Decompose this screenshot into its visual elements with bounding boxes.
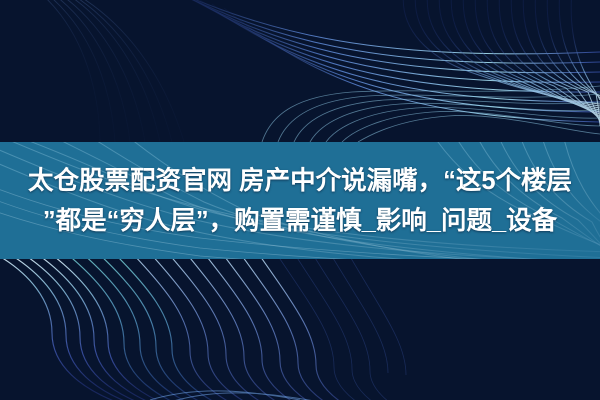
top-wave-decoration xyxy=(0,0,600,142)
bottom-strand-group-a xyxy=(0,259,188,400)
bottom-wave-svg xyxy=(0,259,600,400)
bottom-strand-group-c xyxy=(132,259,420,400)
band-wave-decoration xyxy=(0,142,600,259)
banner-image: 太仓股票配资官网 房产中介说漏嘴，“这5个楼层 ”都是“穷人层”，购置需谨慎_影… xyxy=(0,0,600,400)
bottom-strand-group-b xyxy=(66,259,260,400)
band-wave-svg xyxy=(0,142,600,259)
banner-top-background xyxy=(0,0,600,142)
left-arc-group xyxy=(0,0,184,142)
bottom-wave-decoration xyxy=(0,259,600,400)
bottom-faint-tails xyxy=(276,259,480,400)
